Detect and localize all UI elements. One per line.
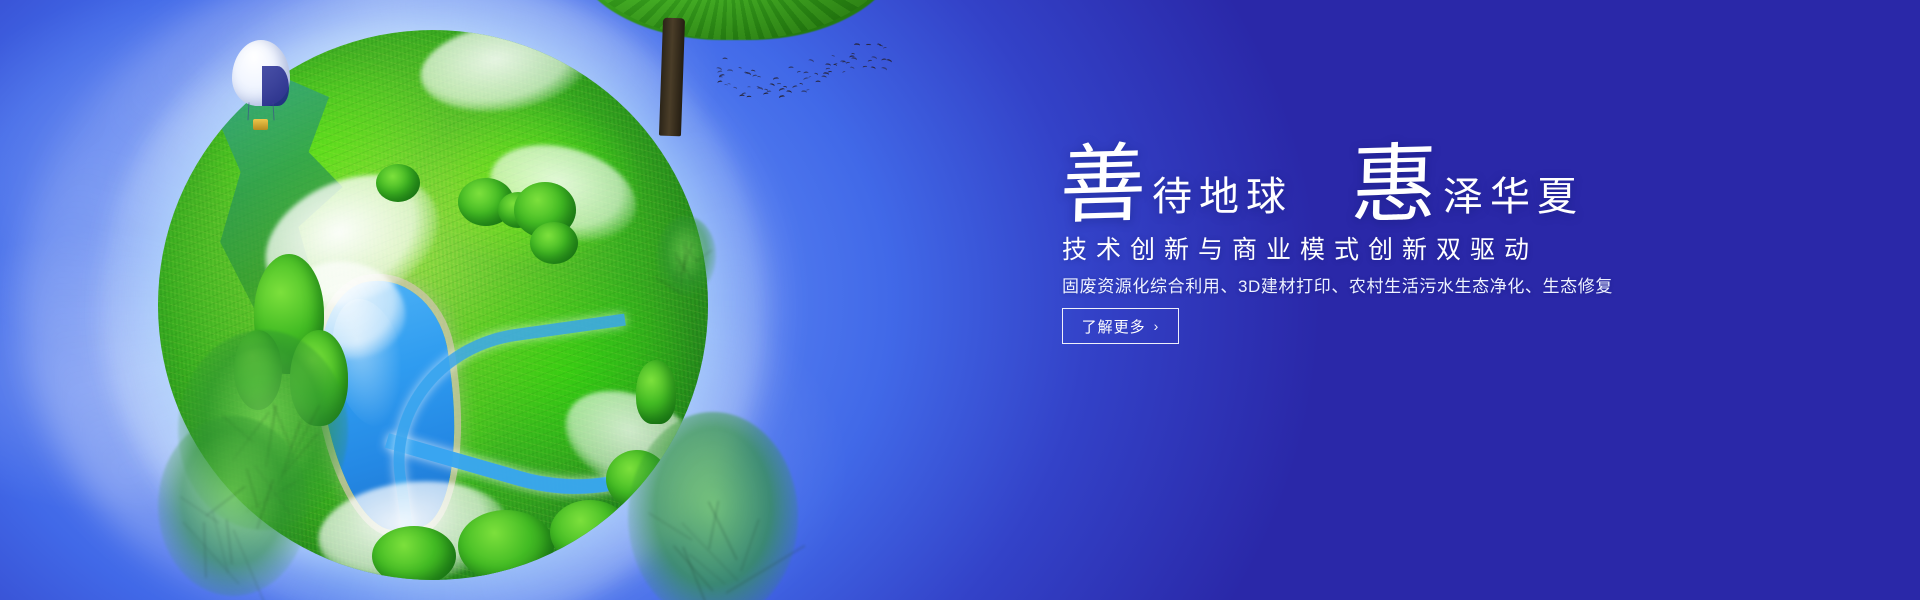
bird-icon (726, 69, 733, 74)
bird-icon (738, 67, 742, 70)
bird-icon (769, 82, 776, 88)
river-water-secondary (377, 314, 654, 557)
bird-icon (788, 66, 794, 70)
planet-cloud (246, 151, 458, 330)
bird-icon (823, 72, 830, 78)
tree-branch (272, 403, 292, 448)
bird-icon (842, 71, 846, 74)
tree-branch (681, 522, 739, 582)
balloon-rigging (247, 102, 274, 120)
bird-icon (846, 61, 851, 65)
tree-branch (648, 512, 692, 541)
side-tree (158, 416, 308, 596)
tree-clump (514, 182, 576, 238)
bird-icon (778, 95, 785, 101)
bird-icon (866, 44, 871, 48)
page-description: 固废资源化综合利用、3D建材打印、农村生活污水生态净化、生态修复 (1062, 272, 1613, 297)
tree-branch (256, 479, 274, 529)
tree-branch (282, 421, 301, 473)
tree-clump (530, 222, 578, 264)
tree-branch (222, 415, 255, 444)
learn-more-button[interactable]: 了解更多 › (1062, 308, 1179, 344)
bird-icon (746, 96, 751, 100)
bird-icon (863, 65, 868, 69)
tree-branch (226, 519, 233, 564)
bird-icon (776, 83, 780, 86)
tree-branch (254, 465, 291, 515)
tree-branch (274, 405, 320, 490)
tree-branch (708, 501, 738, 560)
balloon-basket (253, 119, 268, 130)
tree-branch (203, 522, 207, 578)
headline-part-2: 惠 泽华夏 (1351, 146, 1584, 225)
tree-branch (245, 481, 296, 513)
tree-clump (376, 164, 420, 202)
bird-icon (800, 90, 806, 95)
tree-branch (232, 529, 267, 600)
lake-water (309, 273, 468, 537)
tree-branch (265, 406, 277, 468)
tree-branch (674, 263, 679, 283)
cloud-swirl-inner (95, 30, 695, 570)
bird-icon (849, 66, 855, 71)
hot-air-balloon-icon (232, 40, 294, 136)
bird-icon (881, 58, 887, 63)
side-tree (628, 412, 798, 600)
tree-branch (740, 519, 760, 572)
planet-cloud (550, 371, 708, 510)
bird-icon (831, 55, 835, 59)
tree-clump (636, 360, 676, 424)
bird-icon (744, 71, 751, 77)
bird-icon (833, 63, 838, 67)
side-tree (656, 216, 716, 296)
bird-icon (854, 43, 861, 48)
bird-icon (773, 77, 780, 83)
tree-branch (205, 486, 245, 517)
bird-icon (717, 80, 723, 85)
tree-clump (550, 500, 630, 564)
planet-cloud (479, 129, 648, 257)
tree-branch (708, 501, 719, 549)
cloud-swirl-outer (20, 0, 780, 600)
bird-icon (799, 82, 804, 86)
chevron-right-icon: › (1154, 319, 1160, 333)
tree-clump (290, 330, 348, 426)
page-subtitle: 技术创新与商业模式创新双驱动 (1062, 230, 1538, 266)
balloon-stripe (262, 66, 289, 106)
river-water (385, 207, 708, 538)
headline-part-1: 善 待地球 (1060, 146, 1293, 225)
bird-icon (880, 66, 888, 73)
tree-branch (695, 249, 712, 263)
tree-branch (683, 245, 699, 263)
tree-branch (246, 468, 259, 508)
tree-clump (458, 178, 514, 226)
tree-branch (673, 545, 714, 592)
tree-clump (254, 254, 324, 374)
lake-highlight (321, 292, 416, 434)
tree-branch (212, 511, 229, 574)
planet-cloud (415, 30, 595, 121)
bird-icon (723, 57, 728, 61)
tree-branch (182, 521, 240, 585)
tree-clump (372, 526, 456, 580)
bird-icon (816, 80, 821, 84)
tree-branch (725, 545, 805, 594)
tree-branch (680, 251, 687, 286)
bird-icon (883, 47, 887, 50)
bird-icon (757, 75, 761, 78)
headline-big-char-1: 善 (1059, 145, 1153, 226)
headline-small-chars-1: 待地球 (1152, 177, 1293, 217)
bird-icon (803, 71, 809, 75)
bird-icon (724, 84, 728, 87)
tree-branch (689, 554, 726, 585)
bird-icon (814, 72, 819, 76)
globe-atmosphere-glow (102, 0, 764, 600)
hero-banner: 善 待地球 惠 泽华夏 技术创新与商业模式创新双驱动 固废资源化综合利用、3D建… (0, 0, 1920, 600)
planet-cloud (277, 251, 414, 370)
page-title: 善 待地球 惠 泽华夏 (1060, 146, 1584, 225)
bird-icon (871, 55, 878, 61)
tree-branch (655, 277, 682, 295)
tree-clump (234, 330, 282, 410)
bird-icon (747, 87, 750, 90)
bird-icon (785, 90, 792, 95)
planet-cloud (313, 472, 512, 580)
headline-big-char-2: 惠 (1350, 145, 1444, 226)
tree-leaf-texture (571, 0, 901, 40)
hero-content: 善 待地球 惠 泽华夏 技术创新与商业模式创新双驱动 固废资源化综合利用、3D建… (1060, 0, 1760, 600)
bird-icon (739, 95, 745, 99)
tree-branch (232, 411, 270, 460)
tree-clump (458, 510, 554, 580)
headline-small-chars-2: 泽华夏 (1443, 177, 1584, 217)
bird-icon (797, 71, 802, 75)
bird-icon (792, 85, 798, 91)
tree-branch (682, 546, 714, 600)
bird-icon (869, 66, 875, 71)
tree-branch (674, 251, 694, 282)
learn-more-label: 了解更多 (1082, 316, 1146, 337)
tree-branch (684, 241, 686, 267)
bird-icon (733, 87, 738, 91)
side-tree (178, 330, 348, 530)
bird-icon (807, 59, 814, 65)
tree-clump (606, 450, 668, 508)
tree-branch (679, 242, 694, 276)
bird-flock-icon (712, 44, 892, 114)
tree-branch (179, 496, 219, 524)
tree-branch (281, 432, 319, 476)
bird-icon (824, 62, 830, 67)
tree-trunk (659, 18, 685, 137)
tree-branch (674, 256, 687, 273)
tree-clump (498, 192, 538, 228)
bird-icon (803, 77, 809, 83)
tree-canopy (571, 0, 901, 40)
